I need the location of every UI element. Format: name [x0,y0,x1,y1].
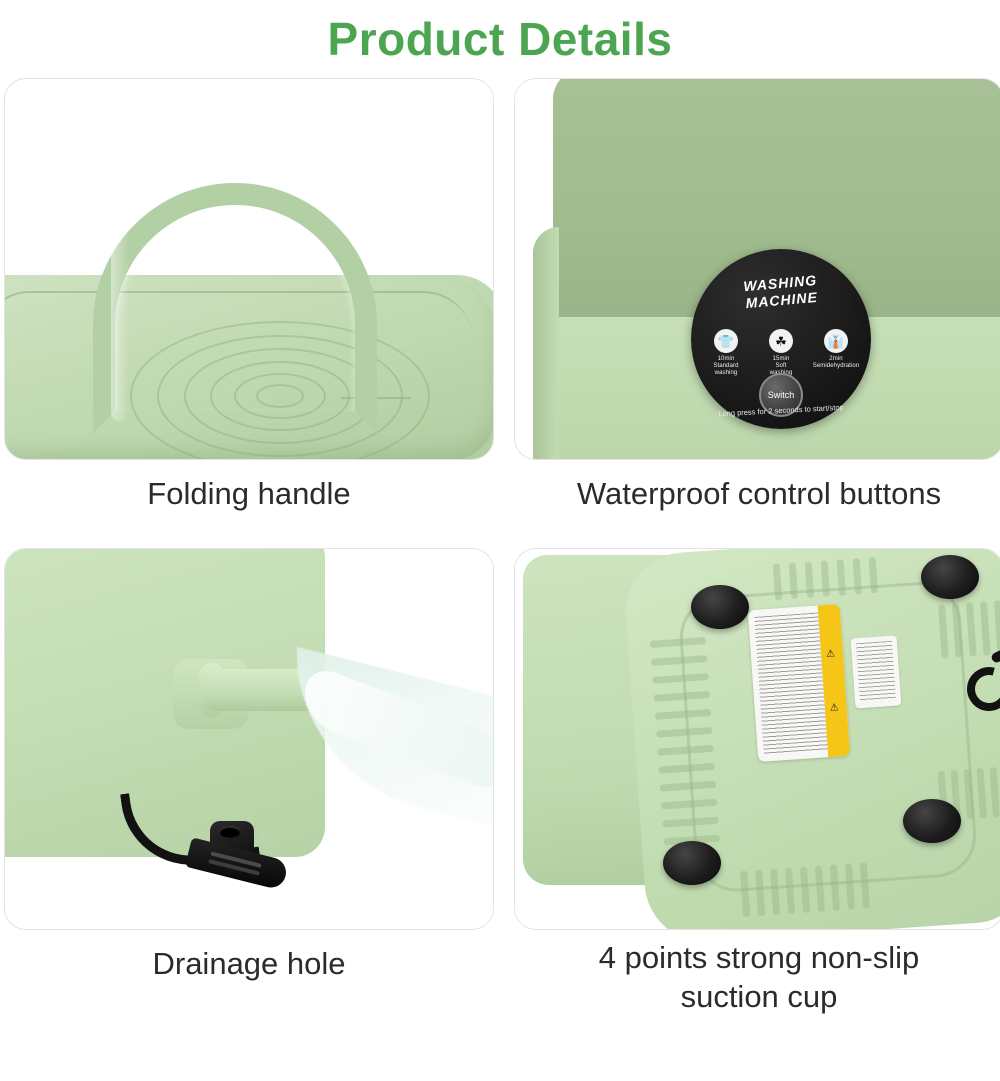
mode-buttons: 👕 10min Standard washing ☘ 15min Soft wa… [699,329,863,377]
photo-suction-cups [514,548,1000,930]
mode-semidehydration[interactable]: 👔 2min Semidehydration [809,329,863,377]
caption-suction-cup: 4 points strong non-slip suction cup [514,930,1000,1016]
mode-time: 15min [754,356,808,363]
mode-standard-washing[interactable]: 👕 10min Standard washing [699,329,753,377]
spin-dry-icon: 👔 [824,329,848,353]
product-spec-label [748,604,850,762]
control-panel-dial[interactable]: WASHING MACHINE 👕 10min Standard washing… [691,249,871,429]
dial-brand: WASHING MACHINE [690,267,872,317]
caption-drainage-hole: Drainage hole [4,930,494,983]
mode-name-2: washing [699,370,753,377]
caption-line-2: suction cup [514,977,1000,1016]
caption-folding-handle: Folding handle [4,460,494,513]
suction-cup-top-right [921,555,979,599]
caption-line-1: 4 points strong non-slip [514,938,1000,977]
suction-cup-bottom-left [663,841,721,885]
suction-cup-top-left [691,585,749,629]
label-text-lines [754,612,828,755]
mode-soft-washing[interactable]: ☘ 15min Soft washing [754,329,808,377]
detail-card-control-buttons[interactable]: WASHING MACHINE 👕 10min Standard washing… [514,78,1000,548]
machine-left-edge [533,227,559,460]
mode-time: 10min [699,356,753,363]
product-rating-label [851,635,902,708]
folding-handle-arc [93,183,377,433]
caption-control-buttons: Waterproof control buttons [514,460,1000,513]
label-text-lines [856,641,896,703]
photo-folding-handle [4,78,494,460]
soft-wash-icon: ☘ [769,329,793,353]
mode-name-1: Semidehydration [809,363,863,370]
suction-cup-bottom-right [903,799,961,843]
mode-name-1: Soft [754,363,808,370]
tshirt-icon: 👕 [714,329,738,353]
photo-drainage-hole [4,548,494,930]
photo-control-panel: WASHING MACHINE 👕 10min Standard washing… [514,78,1000,460]
mode-name-1: Standard [699,363,753,370]
detail-card-drainage-hole[interactable]: Drainage hole [4,548,494,1018]
detail-card-suction-cup[interactable]: 4 points strong non-slip suction cup [514,548,1000,1018]
product-detail-grid: Folding handle WASHING MACHINE 👕 10min S… [0,78,1000,1018]
mode-time: 2min [809,356,863,363]
detail-card-folding-handle[interactable]: Folding handle [4,78,494,548]
page-title: Product Details [0,0,1000,78]
